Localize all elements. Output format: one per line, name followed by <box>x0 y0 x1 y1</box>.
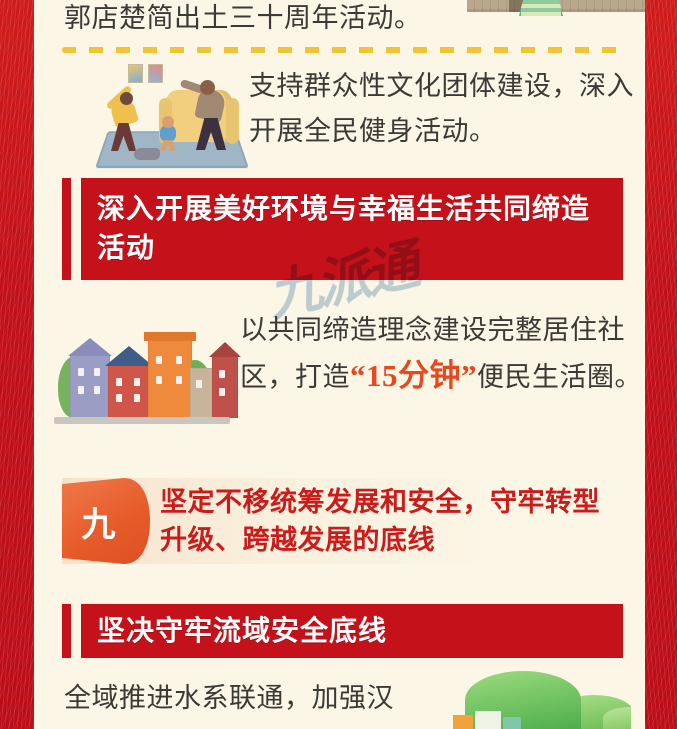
paragraph-river: 全域推进水系联通，加强汉 <box>64 676 464 721</box>
headline-bar-body: 坚决守牢流域安全底线 <box>81 604 623 658</box>
top-paragraph: 郭店楚简出土三十周年活动。 <box>64 0 484 41</box>
infographic-poster: 郭店楚简出土三十周年活动。 支持群众性文化团体建设，深入开展全民健身活动。 深入… <box>0 0 677 729</box>
headline-bar-environment: 深入开展美好环境与幸福生活共同缔造活动 <box>62 178 623 280</box>
headline-2-text: 坚决守牢流域安全底线 <box>81 612 403 651</box>
headline-1-text: 深入开展美好环境与幸福生活共同缔造活动 <box>81 190 623 268</box>
paragraph-community: 以共同缔造理念建设完整居住社区，打造“15分钟”便民生活圈。 <box>240 308 645 400</box>
section-number-badge: 九 <box>62 478 150 564</box>
bamboo-slip-icon <box>467 0 645 12</box>
townhouse-row-icon <box>42 322 242 430</box>
section-nine-title: 坚定不移统筹发展和安全，守牢转型升级、跨越发展的底线 <box>160 483 617 559</box>
community-highlight: “15分钟” <box>350 358 477 393</box>
headline-accent-bar <box>62 178 71 280</box>
family-exercise-icon <box>96 62 248 170</box>
poster-content-area: 郭店楚简出土三十周年活动。 支持群众性文化团体建设，深入开展全民健身活动。 深入… <box>34 0 645 729</box>
headline-bar-body: 深入开展美好环境与幸福生活共同缔造活动 <box>81 178 623 280</box>
right-red-border <box>645 0 677 729</box>
dashed-divider <box>62 47 623 53</box>
left-red-border <box>0 0 34 729</box>
section-nine-banner: 九 坚定不移统筹发展和安全，守牢转型升级、跨越发展的底线 <box>62 478 623 564</box>
headline-bar-river-safety: 坚决守牢流域安全底线 <box>62 604 623 658</box>
mountain-river-icon <box>451 667 631 729</box>
section-number: 九 <box>82 497 131 546</box>
community-text-part2: 便民生活圈。 <box>477 362 642 392</box>
headline-accent-bar <box>62 604 71 658</box>
paragraph-fitness: 支持群众性文化团体建设，深入开展全民健身活动。 <box>249 64 645 154</box>
